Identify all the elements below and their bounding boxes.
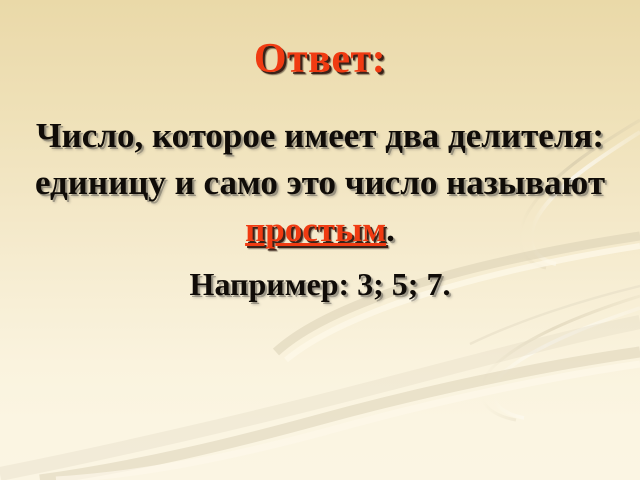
slide-body: Число, которое имеет два делителя: едини… <box>18 112 622 307</box>
definition-period: . <box>386 210 395 249</box>
example-paragraph: Например: 3; 5; 7. <box>18 261 622 307</box>
definition-text-before: Число, которое имеет два делителя: едини… <box>35 116 605 202</box>
slide-content: Ответ: Число, которое имеет два делителя… <box>0 0 640 480</box>
definition-paragraph: Число, которое имеет два делителя: едини… <box>18 112 622 253</box>
page-title: Ответ: <box>0 38 640 80</box>
presentation-slide: Ответ: Число, которое имеет два делителя… <box>0 0 640 480</box>
keyword-prime: простым <box>245 210 386 249</box>
